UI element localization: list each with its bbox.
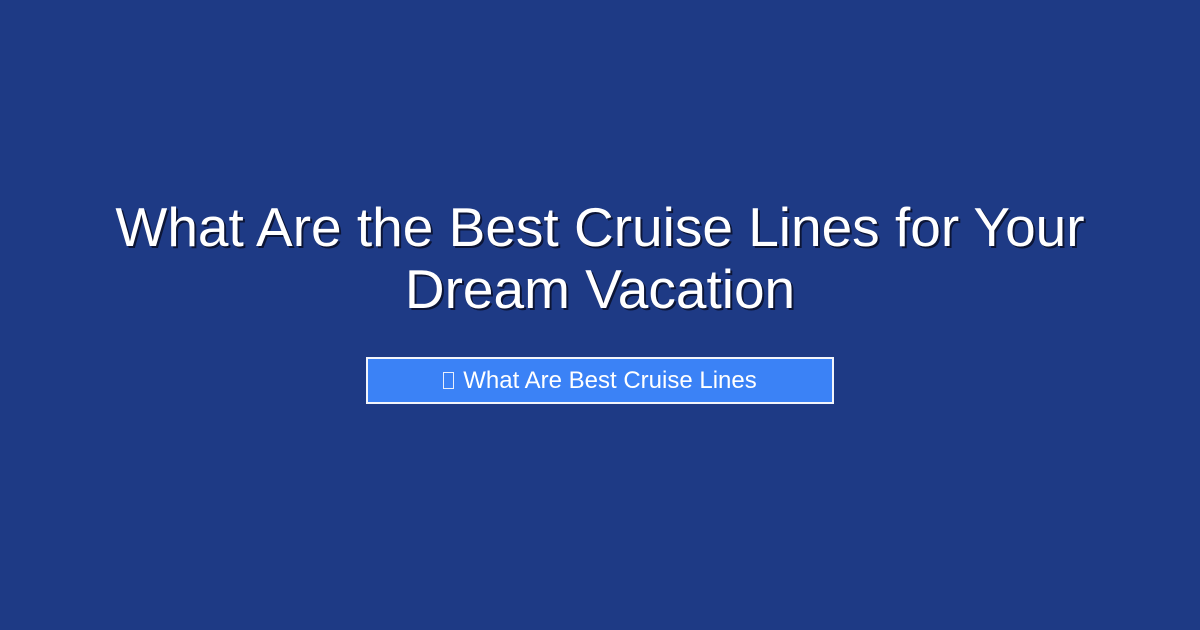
cta-button-label: What Are Best Cruise Lines <box>463 367 756 395</box>
cta-button-content: What Are Best Cruise Lines <box>443 367 756 395</box>
hero-card: What Are the Best Cruise Lines for Your … <box>0 0 1200 630</box>
page-title: What Are the Best Cruise Lines for Your … <box>70 196 1130 320</box>
missing-glyph-box-icon <box>443 372 454 389</box>
cta-button[interactable]: What Are Best Cruise Lines <box>366 357 834 404</box>
